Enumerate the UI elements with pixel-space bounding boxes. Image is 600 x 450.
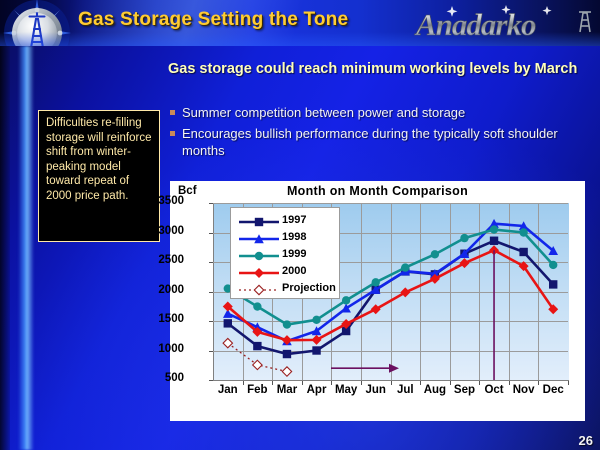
y-axis-tick-label: 3500 [124, 195, 184, 207]
y-axis-tick-label: 1500 [124, 313, 184, 325]
body-heading: Gas storage could reach minimum working … [168, 60, 578, 78]
left-edge-shadow [0, 46, 10, 450]
projection-arrow [331, 364, 399, 373]
x-axis-tick-label: Dec [533, 384, 573, 396]
bullet-square-icon [170, 131, 175, 136]
y-axis-tick-label: 500 [124, 372, 184, 384]
left-light-beam [18, 46, 34, 450]
bullet-text: Encourages bullish performance during th… [182, 126, 558, 158]
y-axis-tick-label: 3000 [124, 225, 184, 237]
bullet-square-icon [170, 110, 175, 115]
bullet-item: Summer competition between power and sto… [182, 105, 582, 122]
callout-box: Difficulties re-filling storage will rei… [38, 110, 160, 242]
chart-overlay [213, 203, 568, 380]
slide-title: Gas Storage Setting the Tone [78, 9, 348, 31]
svg-text:Anadarko: Anadarko [414, 7, 536, 42]
y-axis-tick-label: 1000 [124, 343, 184, 355]
slide-root: Gas Storage Setting the Tone Anadarko [0, 0, 600, 450]
y-axis-tick-label: 2500 [124, 254, 184, 266]
anadarko-logo: Anadarko [414, 4, 594, 44]
x-tick-mark [568, 381, 569, 385]
chart-panel: Bcf Month on Month Comparison 5001000150… [170, 181, 585, 421]
y-tick-mark [209, 380, 213, 381]
slide-header: Gas Storage Setting the Tone Anadarko [0, 0, 600, 46]
chart-title: Month on Month Comparison [170, 184, 585, 198]
bullet-item: Encourages bullish performance during th… [182, 126, 582, 159]
y-axis-tick-label: 2000 [124, 284, 184, 296]
page-number: 26 [579, 433, 593, 448]
compass-derrick-logo [2, 0, 72, 46]
bullet-text: Summer competition between power and sto… [182, 105, 465, 120]
